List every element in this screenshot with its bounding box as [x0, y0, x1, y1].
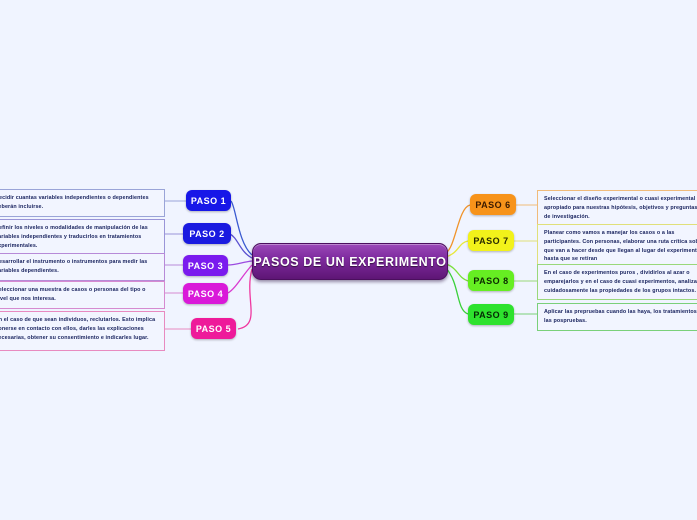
node-label-paso-2: PASO 2 [189, 229, 224, 239]
leaf-box-paso-8[interactable]: En el caso de experimentos puros , divid… [537, 264, 697, 300]
edge-paso-8 [446, 264, 468, 281]
leaf-text-paso-5: En el caso de que sean individuos, reclu… [0, 316, 159, 342]
central-node[interactable]: PASOS DE UN EXPERIMENTO [252, 243, 448, 280]
leaf-text-paso-3: Desarrollar el instrumento o instrumento… [0, 258, 159, 276]
node-paso-4[interactable]: PASO 4 [183, 283, 228, 304]
central-node-label: PASOS DE UN EXPERIMENTO [253, 255, 446, 269]
node-label-paso-5: PASO 5 [196, 324, 231, 334]
leaf-text-paso-4: Seleccionar una muestra de casos o perso… [0, 286, 159, 304]
node-label-paso-4: PASO 4 [188, 289, 223, 299]
leaf-box-paso-5[interactable]: En el caso de que sean individuos, reclu… [0, 311, 165, 351]
leaf-text-paso-7: Planear como vamos a manejar los casos o… [544, 229, 697, 264]
edge-paso-9 [446, 268, 468, 314]
node-label-paso-1: PASO 1 [191, 196, 226, 206]
edge-paso-5 [238, 269, 252, 329]
leaf-text-paso-9: Aplicar las prepruebas cuando las haya, … [544, 308, 697, 326]
edge-paso-7 [446, 241, 468, 257]
node-label-paso-8: PASO 8 [473, 276, 508, 286]
edge-paso-2 [230, 234, 252, 258]
leaf-box-paso-9[interactable]: Aplicar las prepruebas cuando las haya, … [537, 303, 697, 331]
leaf-text-paso-8: En el caso de experimentos puros , divid… [544, 269, 697, 295]
node-label-paso-9: PASO 9 [473, 310, 508, 320]
edge-paso-6 [446, 205, 470, 253]
mind-map-canvas: Decidir cuantas variables independientes… [0, 0, 697, 520]
node-label-paso-3: PASO 3 [188, 261, 223, 271]
node-paso-5[interactable]: PASO 5 [191, 318, 236, 339]
leaf-text-paso-6: Seleccionar el diseño experimental o cua… [544, 195, 697, 221]
node-paso-6[interactable]: PASO 6 [470, 194, 516, 215]
node-paso-9[interactable]: PASO 9 [468, 304, 514, 325]
leaf-text-paso-1: Decidir cuantas variables independientes… [0, 194, 159, 212]
node-paso-2[interactable]: PASO 2 [183, 223, 231, 244]
node-label-paso-6: PASO 6 [475, 200, 510, 210]
node-paso-8[interactable]: PASO 8 [468, 270, 514, 291]
edge-paso-3 [228, 261, 252, 265]
leaf-box-paso-3[interactable]: Desarrollar el instrumento o instrumento… [0, 253, 165, 281]
node-paso-7[interactable]: PASO 7 [468, 230, 514, 251]
leaf-box-paso-2[interactable]: Definir los niveles o modalidades de man… [0, 219, 165, 255]
edge-paso-1 [231, 201, 252, 255]
leaf-box-paso-6[interactable]: Seleccionar el diseño experimental o cua… [537, 190, 697, 226]
leaf-box-paso-1[interactable]: Decidir cuantas variables independientes… [0, 189, 165, 217]
leaf-box-paso-7[interactable]: Planear como vamos a manejar los casos o… [537, 224, 697, 269]
leaf-text-paso-2: Definir los niveles o modalidades de man… [0, 224, 159, 250]
node-label-paso-7: PASO 7 [473, 236, 508, 246]
leaf-box-paso-4[interactable]: Seleccionar una muestra de casos o perso… [0, 281, 165, 309]
node-paso-1[interactable]: PASO 1 [186, 190, 231, 211]
node-paso-3[interactable]: PASO 3 [183, 255, 228, 276]
edge-paso-4 [228, 265, 252, 293]
